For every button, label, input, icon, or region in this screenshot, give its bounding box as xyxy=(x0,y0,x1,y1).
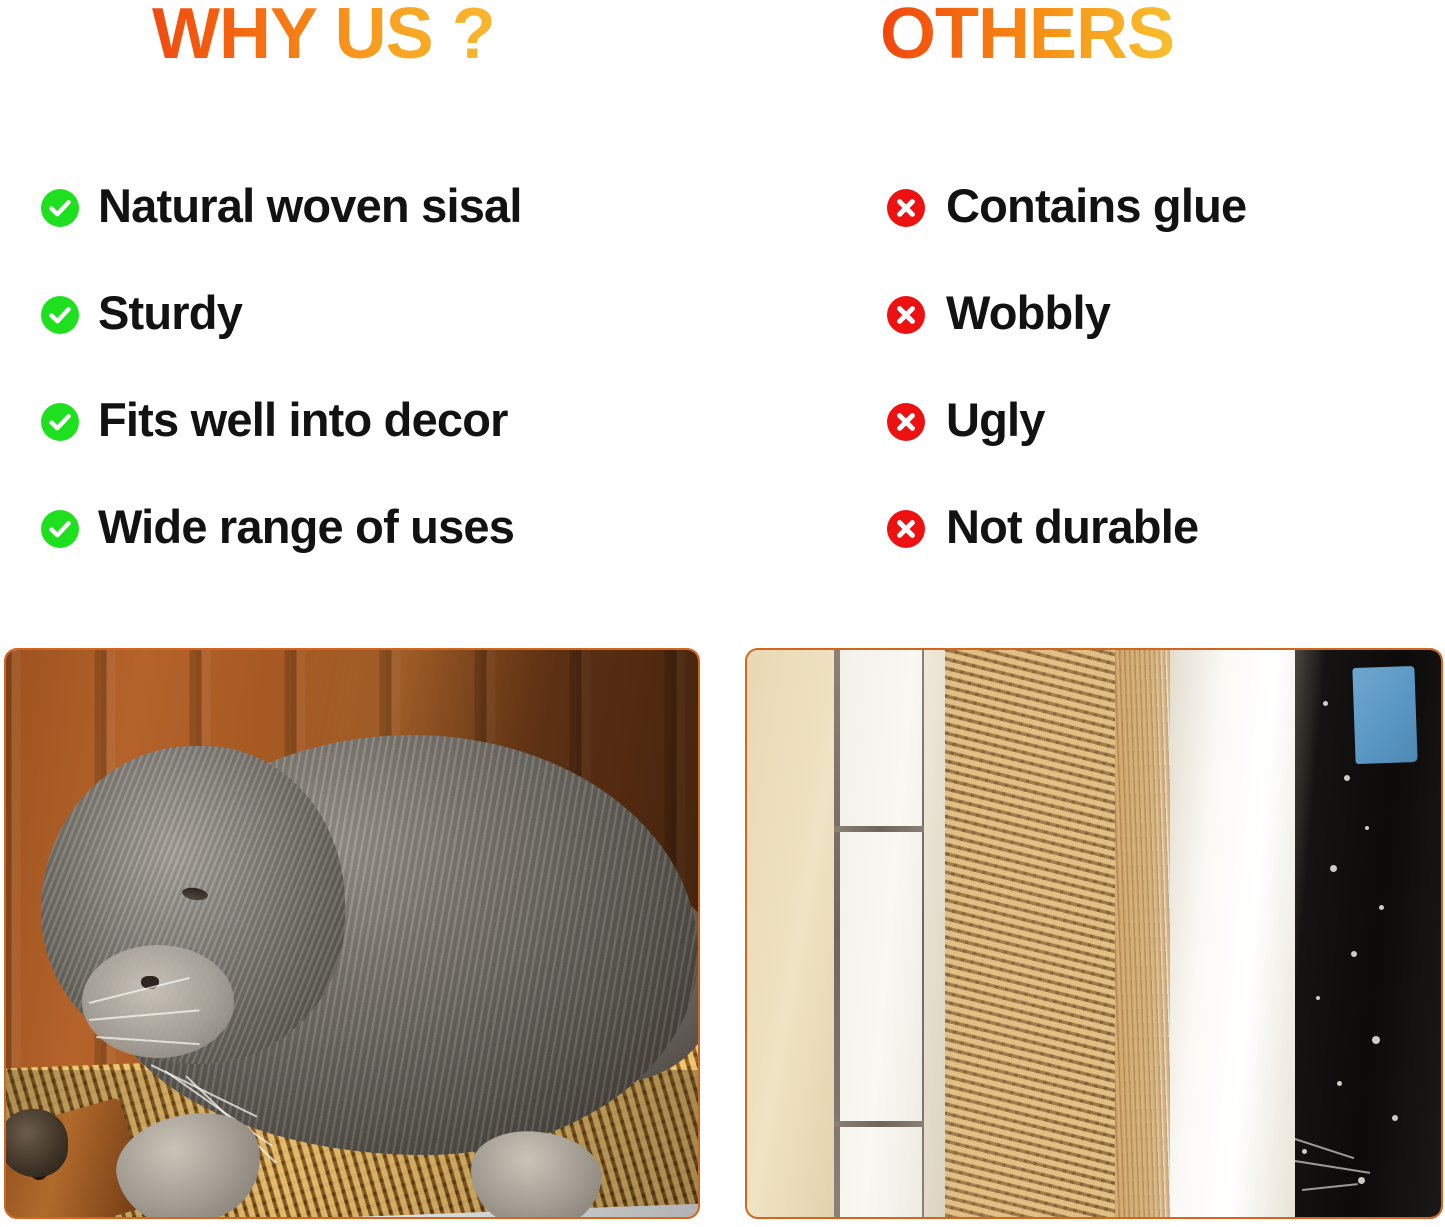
x-circle-icon xyxy=(886,295,926,335)
heading-why-us: WHY US ? xyxy=(152,0,495,72)
frayed-sisal-fibers xyxy=(1115,650,1177,1217)
cons-list: Contains glue Wobbly Ugly Not durable xyxy=(886,182,1426,610)
list-item-label: Natural woven sisal xyxy=(98,182,720,229)
list-item: Sturdy xyxy=(40,289,720,396)
blue-tape xyxy=(1353,666,1419,764)
list-item: Contains glue xyxy=(886,182,1426,289)
list-item: Wobbly xyxy=(886,289,1426,396)
white-wall xyxy=(1170,650,1295,1217)
headings-row: WHY US ? OTHERS xyxy=(0,0,1445,105)
list-item-label: Ugly xyxy=(946,396,1426,443)
list-item: Fits well into decor xyxy=(40,396,720,503)
beige-wall xyxy=(747,650,837,1217)
x-circle-icon xyxy=(886,402,926,442)
x-circle-icon xyxy=(886,509,926,549)
plush-toy xyxy=(4,1109,68,1177)
list-item: Ugly xyxy=(886,396,1426,503)
frayed-sisal-post-photo xyxy=(745,648,1443,1219)
list-item-label: Fits well into decor xyxy=(98,396,720,443)
woven-sisal-surface xyxy=(945,650,1125,1217)
pros-list: Natural woven sisal Sturdy Fits well int… xyxy=(40,182,720,610)
cat-on-sisal-mat-photo xyxy=(4,648,700,1219)
x-circle-icon xyxy=(886,188,926,228)
list-item-label: Sturdy xyxy=(98,289,720,336)
list-item-label: Not durable xyxy=(946,503,1426,550)
list-item-label: Wide range of uses xyxy=(98,503,720,550)
check-circle-icon xyxy=(40,188,80,228)
check-circle-icon xyxy=(40,402,80,442)
list-item: Not durable xyxy=(886,503,1426,610)
list-item-label: Wobbly xyxy=(946,289,1426,336)
list-item: Natural woven sisal xyxy=(40,182,720,289)
list-item-label: Contains glue xyxy=(946,182,1426,229)
check-circle-icon xyxy=(40,509,80,549)
check-circle-icon xyxy=(40,295,80,335)
white-tile-wall xyxy=(837,650,927,1217)
list-item: Wide range of uses xyxy=(40,503,720,610)
heading-others: OTHERS xyxy=(880,0,1174,72)
comparison-infographic: WHY US ? OTHERS Natural woven sisal Stur… xyxy=(0,0,1445,1227)
